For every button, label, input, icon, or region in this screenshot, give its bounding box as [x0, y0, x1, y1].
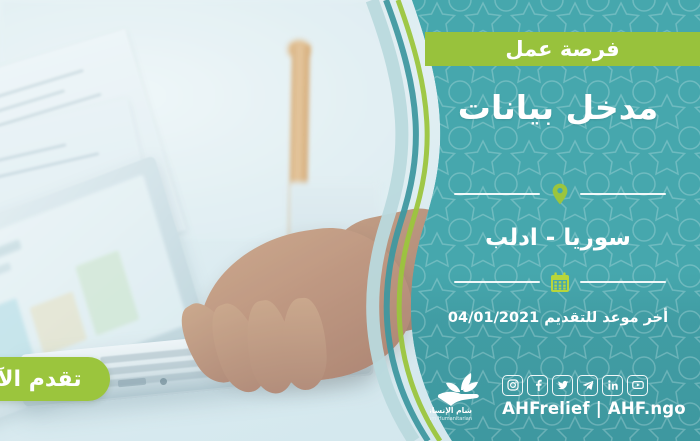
poster-content: فرصة عمل مدخل بيانات سوريا - ادلب: [416, 0, 700, 441]
sham-humanitarian-logo: شام الإنسانية Sham Humanitarian: [430, 370, 494, 422]
linkedin-icon[interactable]: [602, 375, 623, 396]
telegram-icon[interactable]: [577, 375, 598, 396]
social-links: [502, 375, 648, 396]
map-pin-icon: [549, 182, 571, 206]
divider-line: [454, 281, 540, 283]
vacancy-ribbon-label: فرصة عمل: [505, 37, 619, 61]
svg-text:Sham Humanitarian: Sham Humanitarian: [430, 416, 472, 422]
job-vacancy-poster: فرصة عمل مدخل بيانات سوريا - ادلب: [0, 0, 700, 441]
deadline-divider: [454, 269, 666, 295]
footer-contact: AHFrelief | AHF.ngo: [502, 375, 686, 418]
youtube-icon[interactable]: [627, 375, 648, 396]
facebook-icon[interactable]: [527, 375, 548, 396]
calendar-icon: [549, 270, 571, 294]
social-handle: AHFrelief | AHF.ngo: [502, 399, 686, 418]
application-deadline: أخر موعد للتقديم 04/01/2021: [416, 310, 700, 326]
twitter-icon[interactable]: [552, 375, 573, 396]
divider-line: [580, 193, 666, 195]
divider-line: [454, 193, 540, 195]
location-divider: [454, 181, 666, 207]
apply-now-label: تقدم الآن: [0, 367, 82, 392]
svg-text:شام الإنسانية: شام الإنسانية: [430, 406, 472, 415]
job-title: مدخل بيانات: [416, 88, 700, 127]
job-location: سوريا - ادلب: [416, 225, 700, 251]
instagram-icon[interactable]: [502, 375, 523, 396]
footer: شام الإنسانية Sham Humanitarian: [416, 366, 700, 426]
vacancy-ribbon: فرصة عمل: [425, 32, 700, 66]
divider-line: [580, 281, 666, 283]
apply-now-button[interactable]: تقدم الآن: [0, 357, 110, 401]
